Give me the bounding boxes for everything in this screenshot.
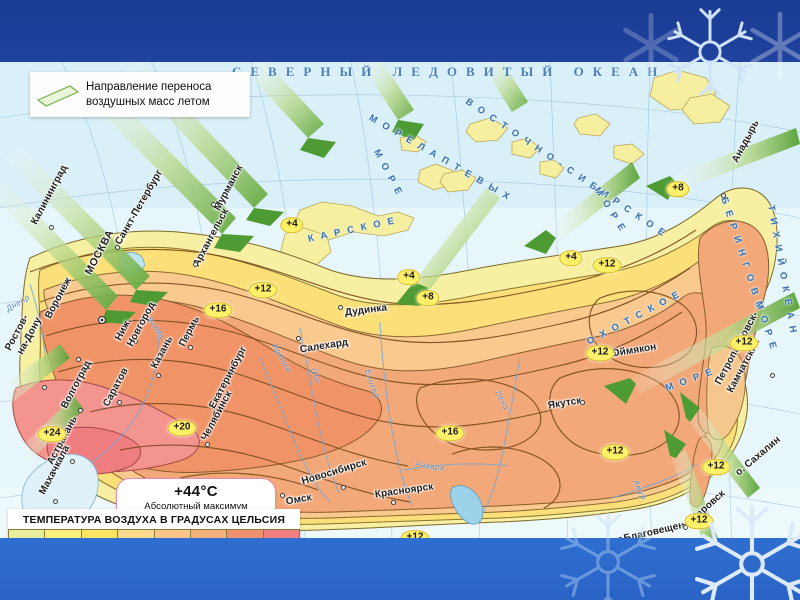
air-mass-legend: Направление переноса воздушных масс лето…	[30, 72, 250, 117]
temperature-marker: +12	[249, 282, 278, 298]
city-dot	[770, 373, 775, 378]
city-dot	[156, 373, 161, 378]
city-dot	[115, 245, 120, 250]
legend-line2: воздушных масс летом	[86, 95, 211, 110]
scale-title: ТЕМПЕРАТУРА ВОЗДУХА В ГРАДУСАХ ЦЕЛЬСИЯ	[8, 513, 300, 529]
city-dot	[280, 493, 285, 498]
callout-value: +44°C	[121, 483, 271, 500]
temperature-marker: +12	[685, 513, 714, 529]
city-dot	[188, 345, 193, 350]
temperature-marker: +12	[586, 345, 615, 361]
city-dot	[53, 499, 58, 504]
temperature-marker: +12	[593, 257, 622, 273]
temperature-marker: +24	[38, 426, 67, 442]
city-dot	[193, 262, 198, 267]
city-dot	[391, 500, 396, 505]
temperature-marker: +8	[666, 181, 689, 197]
city-dot	[49, 225, 54, 230]
city-dot	[580, 400, 585, 405]
slide-canvas: СЕВЕРНЫЙ ЛЕДОВИТЫЙ ОКЕАН К А Р С К О ЕМ …	[0, 0, 800, 600]
city-dot	[721, 193, 726, 198]
city-dot	[341, 485, 346, 490]
city-dot	[205, 442, 210, 447]
city-dot	[338, 305, 343, 310]
map-graphics	[0, 58, 800, 544]
temperature-marker: +16	[436, 425, 465, 441]
temperature-marker: +20	[168, 420, 197, 436]
climate-map: СЕВЕРНЫЙ ЛЕДОВИТЫЙ ОКЕАН К А Р С К О ЕМ …	[0, 58, 800, 544]
legend-line1: Направление переноса	[86, 80, 211, 95]
top-frame-band	[0, 0, 800, 62]
temperature-marker: +12	[702, 459, 731, 475]
legend-text: Направление переноса воздушных масс лето…	[86, 80, 211, 109]
temperature-marker: +4	[280, 217, 303, 233]
ocean-title: СЕВЕРНЫЙ ЛЕДОВИТЫЙ ОКЕАН	[232, 64, 666, 80]
green-band-icon	[36, 82, 80, 108]
city-dot	[42, 385, 47, 390]
city-dot	[216, 410, 221, 415]
city-dot	[296, 336, 301, 341]
temperature-marker: +12	[601, 444, 630, 460]
city-dot	[117, 400, 122, 405]
temperature-marker: +12	[730, 335, 759, 351]
city-dot	[78, 408, 83, 413]
temperature-marker: +4	[397, 269, 420, 285]
bottom-frame-band	[0, 538, 800, 600]
city-dot	[211, 202, 216, 207]
temperature-marker: +8	[416, 290, 439, 306]
city-dot	[70, 459, 75, 464]
city-dot	[76, 357, 81, 362]
city-dot	[133, 339, 138, 344]
city-dot	[98, 316, 106, 324]
temperature-marker: +16	[204, 302, 233, 318]
temperature-marker: +4	[559, 250, 582, 266]
